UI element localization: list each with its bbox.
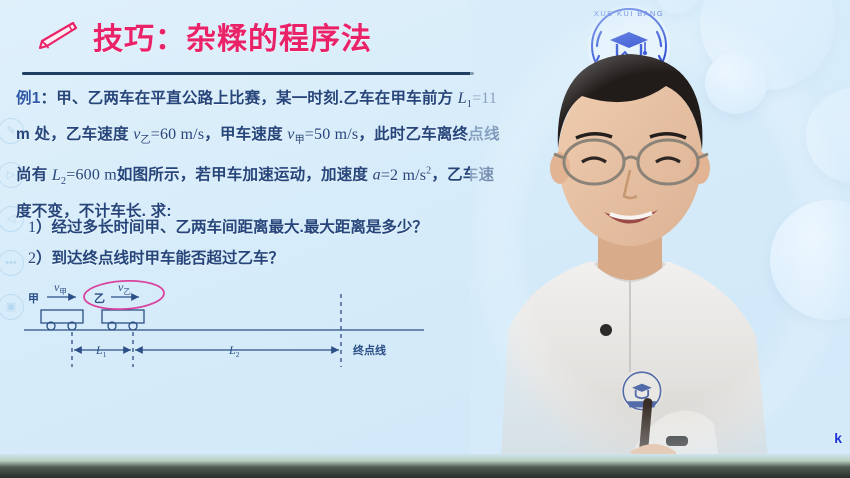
dim-L2-label: L2 (228, 343, 240, 359)
example-colon: ： (41, 90, 57, 107)
problem-line3-a: 尚有 (16, 167, 52, 184)
value-v-jia: =50 m/s (305, 126, 359, 143)
question-text: 经过多长时间甲、乙两车间距离最大.最大距离是多少？ (52, 219, 428, 236)
title-divider (22, 72, 474, 75)
question-number: 2 (28, 250, 36, 267)
slide-title-row: 技巧：杂糅的程序法 (33, 10, 372, 62)
page-title: 技巧：杂糅的程序法 (93, 14, 372, 58)
symbol-L2: L2 (52, 167, 66, 184)
problem-line3-b: 如图所示，若甲车加速运动，加速度 (117, 167, 373, 184)
question-paren: ） (36, 219, 52, 236)
desk-surface (0, 454, 850, 478)
slide-stage: ✎ ▷ ◁ ••• ▣ 技巧：杂糅的程序法 (0, 0, 850, 478)
velocity-yi-label: v乙 (118, 280, 131, 296)
pencil-icon (33, 19, 79, 53)
question-text: 到达终点线时甲车能否超过乙车？ (52, 250, 285, 267)
cart-yi-body (102, 310, 144, 323)
value-a: =2 m/s2 (381, 167, 432, 184)
physics-diagram: 甲 乙 v甲 v乙 L1 L2 终点线 (14, 272, 434, 377)
problem-line2-a: m 处，乙车速度 (16, 126, 133, 143)
symbol-a: a (373, 167, 381, 184)
cart-yi-label: 乙 (94, 292, 105, 305)
symbol-v-yi: v乙 (133, 126, 151, 143)
velocity-jia-label: v甲 (54, 280, 67, 296)
cart-jia-body (41, 310, 83, 323)
problem-line1-text: 甲、乙两车在平直公路上比赛，某一时刻.乙车在甲车前方 (56, 90, 458, 107)
finish-line-label: 终点线 (353, 343, 386, 357)
presenter-video (470, 0, 850, 478)
symbol-v-jia: v甲 (287, 126, 305, 143)
cart-jia-label: 甲 (28, 292, 39, 305)
value-L2: =600 m (66, 167, 117, 184)
example-label: 例1 (16, 90, 41, 107)
dim-L1-label: L1 (95, 343, 107, 359)
question-number: 1 (28, 219, 36, 236)
value-v-yi: =60 m/s (151, 126, 205, 143)
problem-line2-b: ，甲车速度 (204, 126, 287, 143)
corner-watermark: k (834, 430, 842, 446)
question-paren: ） (36, 250, 52, 267)
